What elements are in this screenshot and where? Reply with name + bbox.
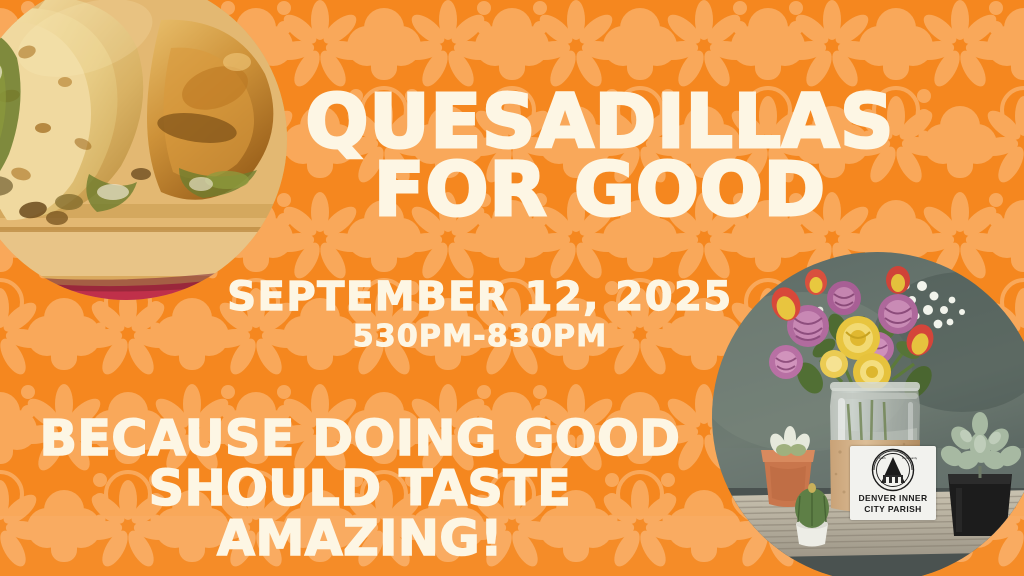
tagline: BECAUSE DOING GOOD SHOULD TASTE AMAZING!: [10, 414, 710, 564]
event-datetime: SEPTEMBER 12, 2025 530PM-830PM: [190, 276, 770, 353]
tagline-line-2: SHOULD TASTE: [10, 464, 710, 514]
headline: QUESADILLAS FOR GOOD: [300, 88, 900, 224]
tagline-line-1: BECAUSE DOING GOOD: [10, 414, 710, 464]
event-date: SEPTEMBER 12, 2025: [190, 276, 770, 318]
tagline-line-3: AMAZING!: [10, 514, 710, 564]
event-time: 530PM-830PM: [190, 320, 770, 353]
headline-line-1: QUESADILLAS: [300, 88, 900, 156]
poster-text-layer: QUESADILLAS FOR GOOD SEPTEMBER 12, 2025 …: [0, 0, 1024, 576]
promotional-poster: Faith Community DENVER INNER CITY PARISH: [0, 0, 1024, 576]
headline-line-2: FOR GOOD: [300, 156, 900, 224]
